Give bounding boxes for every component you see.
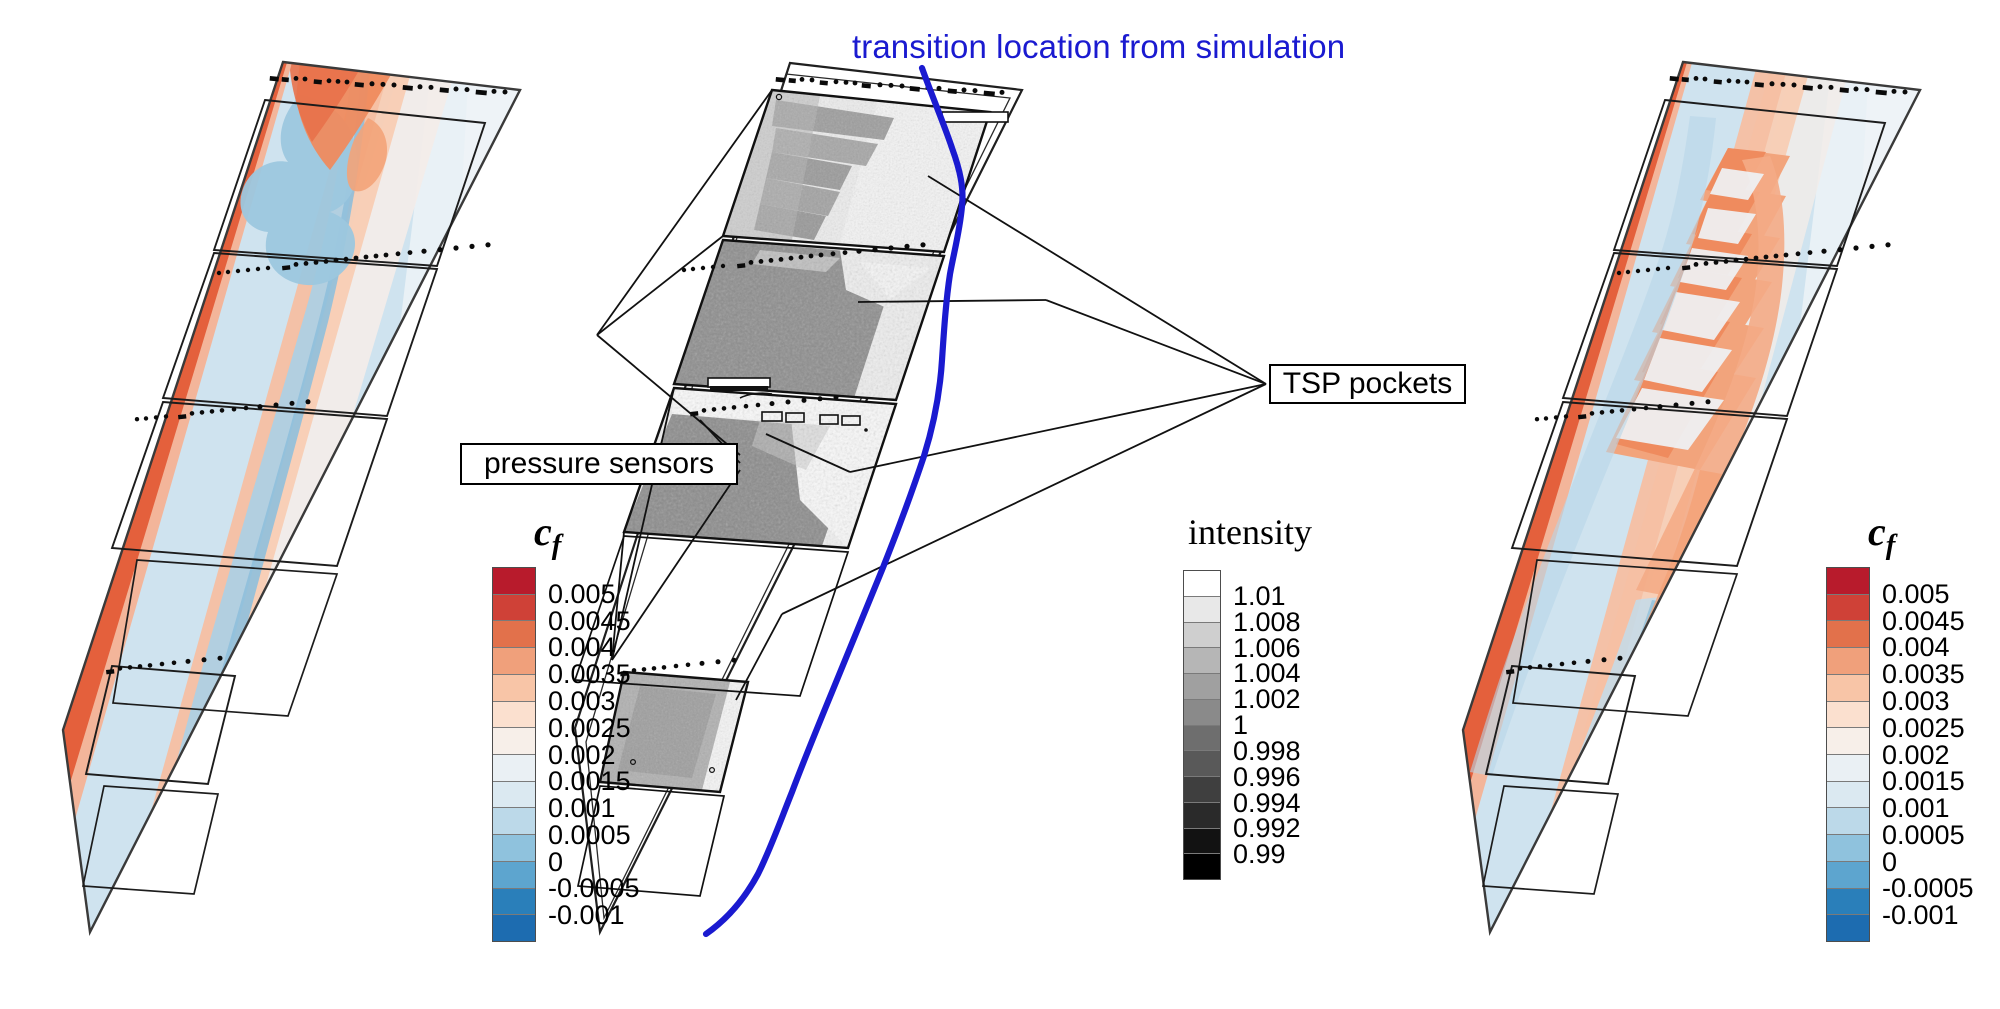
colorbar-tick-label: 0.004 (1882, 634, 1950, 661)
colorbar-cf-left-strip (492, 567, 536, 942)
colorbar-band-3 (1827, 648, 1869, 675)
colorbar-band-0 (1184, 571, 1220, 597)
tsp-pockets-callout: TSP pockets (1269, 364, 1466, 404)
colorbar-band-1 (493, 595, 535, 622)
colorbar-tick-label: 0.0045 (548, 608, 631, 635)
colorbar-tick-label: 0.998 (1233, 738, 1301, 765)
colorbar-band-10 (493, 835, 535, 862)
colorbar-band-2 (493, 621, 535, 648)
colorbar-tick-label: 0.0025 (548, 715, 631, 742)
colorbar-tick-label: 0.005 (1882, 581, 1950, 608)
colorbar-cf-left-title: cf (534, 508, 561, 562)
colorbar-tick-label: 0.002 (548, 742, 616, 769)
colorbar-tick-label: 0.0045 (1882, 608, 1965, 635)
colorbar-cf-right-title: cf (1868, 508, 1895, 562)
colorbar-band-3 (493, 648, 535, 675)
colorbar-band-7 (493, 755, 535, 782)
colorbar-tick-label: 0.0035 (1882, 661, 1965, 688)
colorbar-tick-label: 0.0015 (548, 768, 631, 795)
colorbar-band-11 (1827, 862, 1869, 889)
colorbar-band-5 (1184, 700, 1220, 726)
colorbar-band-9 (493, 808, 535, 835)
panel-left-wing-cf (63, 62, 520, 932)
colorbar-band-12 (1827, 889, 1869, 916)
colorbar-intensity-ticks: 1.011.0081.0061.0041.00210.9980.9960.994… (1233, 570, 1373, 880)
colorbar-band-8 (1827, 782, 1869, 809)
colorbar-band-1 (1184, 597, 1220, 623)
colorbar-tick-label: 0.0005 (548, 822, 631, 849)
colorbar-band-10 (1184, 829, 1220, 855)
colorbar-tick-label: 0.0035 (548, 661, 631, 688)
colorbar-band-6 (1827, 728, 1869, 755)
colorbar-band-8 (493, 782, 535, 809)
colorbar-band-12 (493, 889, 535, 916)
colorbar-tick-label: -0.0005 (1882, 875, 1974, 902)
colorbar-band-5 (1827, 702, 1869, 729)
colorbar-band-1 (1827, 595, 1869, 622)
colorbar-band-6 (493, 728, 535, 755)
colorbar-band-8 (1184, 777, 1220, 803)
colorbar-band-0 (493, 568, 535, 595)
colorbar-cf-left-ticks: 0.0050.00450.0040.00350.0030.00250.0020.… (548, 567, 698, 942)
colorbar-tick-label: 0.003 (548, 688, 616, 715)
colorbar-band-11 (1184, 854, 1220, 879)
colorbar-intensity-strip (1183, 570, 1221, 880)
left-wing-contour-field (63, 62, 520, 932)
colorbar-tick-label: 0.0005 (1882, 822, 1965, 849)
colorbar-band-4 (1184, 674, 1220, 700)
colorbar-band-2 (1827, 621, 1869, 648)
colorbar-tick-label: 1.01 (1233, 583, 1286, 610)
colorbar-tick-label: 0.002 (1882, 742, 1950, 769)
colorbar-tick-label: 0.003 (1882, 688, 1950, 715)
colorbar-band-9 (1184, 803, 1220, 829)
colorbar-tick-label: 0.001 (548, 795, 616, 822)
colorbar-band-2 (1184, 623, 1220, 649)
colorbar-band-5 (493, 702, 535, 729)
colorbar-band-3 (1184, 648, 1220, 674)
colorbar-tick-label: 0 (1882, 849, 1897, 876)
colorbar-band-6 (1184, 726, 1220, 752)
colorbar-tick-label: 1.008 (1233, 609, 1301, 636)
colorbar-tick-label: 1 (1233, 712, 1248, 739)
colorbar-tick-label: 0.005 (548, 581, 616, 608)
colorbar-tick-label: 0.996 (1233, 764, 1301, 791)
colorbar-band-7 (1827, 755, 1869, 782)
colorbar-band-10 (1827, 835, 1869, 862)
colorbar-intensity-title: intensity (1188, 511, 1312, 553)
colorbar-band-9 (1827, 808, 1869, 835)
colorbar-tick-label: 0.004 (548, 634, 616, 661)
colorbar-tick-label: 0.0015 (1882, 768, 1965, 795)
colorbar-tick-label: 0 (548, 849, 563, 876)
colorbar-tick-label: 0.0025 (1882, 715, 1965, 742)
colorbar-cf-right-ticks: 0.0050.00450.0040.00350.0030.00250.0020.… (1882, 567, 2000, 942)
transition-location-label: transition location from simulation (852, 28, 1345, 66)
colorbar-band-13 (1827, 915, 1869, 941)
colorbar-band-13 (493, 915, 535, 941)
colorbar-band-4 (1827, 675, 1869, 702)
colorbar-tick-label: 0.001 (1882, 795, 1950, 822)
colorbar-tick-label: 0.99 (1233, 841, 1286, 868)
colorbar-band-7 (1184, 751, 1220, 777)
colorbar-cf-right-strip (1826, 567, 1870, 942)
colorbar-tick-label: -0.0005 (548, 875, 640, 902)
colorbar-band-0 (1827, 568, 1869, 595)
pressure-sensors-callout: pressure sensors (460, 443, 738, 485)
colorbar-tick-label: -0.001 (1882, 902, 1959, 929)
colorbar-tick-label: -0.001 (548, 902, 625, 929)
figure-canvas (0, 0, 2000, 1009)
colorbar-band-11 (493, 862, 535, 889)
colorbar-band-4 (493, 675, 535, 702)
